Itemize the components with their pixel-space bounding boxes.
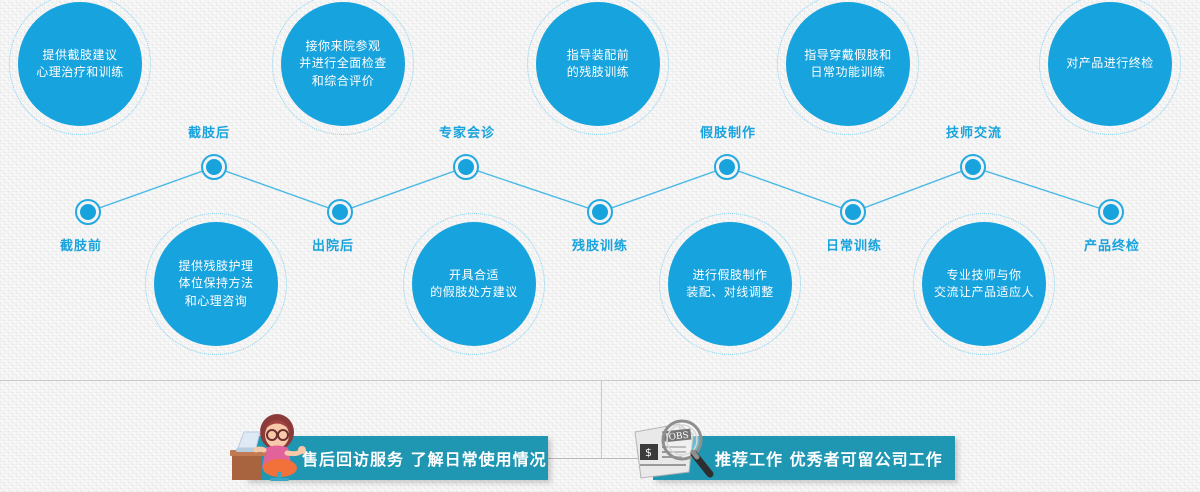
bubble-b4[interactable]: 开具合适 的假肢处方建议 [412, 222, 536, 346]
bubble-line: 提供残肢护理 [160, 258, 272, 275]
bubble-b2[interactable]: 提供残肢护理 体位保持方法 和心理咨询 [154, 222, 278, 346]
bubble-line: 专业技师与你 [928, 267, 1040, 284]
jobs-banner-text: 推荐工作 优秀者可留公司工作 [715, 446, 943, 470]
svg-text:$: $ [645, 446, 652, 459]
timeline-node-n9[interactable] [1098, 199, 1124, 225]
vertical-connector-rule [601, 381, 602, 458]
bubble-line: 装配、对线调整 [674, 284, 786, 301]
bubble-line: 开具合适 [418, 267, 530, 284]
bubble-line: 接你来院参观 [287, 38, 399, 55]
timeline-node-n2[interactable] [201, 154, 227, 180]
timeline-diagram: 提供截肢建议 心理治疗和训练 接你来院参观 并进行全面检查 和综合评价 指导装配… [0, 0, 1200, 492]
timeline-node-n6[interactable] [714, 154, 740, 180]
section-divider [0, 380, 1200, 381]
banner-connector-left [548, 458, 602, 459]
bubble-line: 指导穿戴假肢和 [792, 47, 904, 64]
service-banner[interactable]: 售后回访服务 了解日常使用情况 [245, 436, 548, 480]
bubble-line: 心理治疗和训练 [24, 64, 136, 81]
bubble-line: 的假肢处方建议 [418, 284, 530, 301]
bubble-line: 对产品进行终检 [1054, 55, 1166, 72]
timeline-node-n7[interactable] [840, 199, 866, 225]
node-label-n2: 截肢后 [188, 122, 230, 141]
timeline-node-n5[interactable] [587, 199, 613, 225]
bubble-b3[interactable]: 接你来院参观 并进行全面检查 和综合评价 [281, 2, 405, 126]
bubble-b7[interactable]: 指导穿戴假肢和 日常功能训练 [786, 2, 910, 126]
bubble-b5[interactable]: 指导装配前 的残肢训练 [536, 2, 660, 126]
bubble-line: 交流让产品适应人 [928, 284, 1040, 301]
timeline-node-n4[interactable] [453, 154, 479, 180]
bubble-b9[interactable]: 对产品进行终检 [1048, 2, 1172, 126]
timeline-node-n8[interactable] [960, 154, 986, 180]
woman-at-desk-with-laptop-icon [230, 410, 310, 486]
bubble-line: 日常功能训练 [792, 64, 904, 81]
newspaper-magnifier-jobs-icon: JOBS $ [627, 412, 717, 486]
node-label-n3: 出院后 [312, 235, 354, 254]
bubble-b1[interactable]: 提供截肢建议 心理治疗和训练 [18, 2, 142, 126]
bubble-line: 指导装配前 [542, 47, 654, 64]
node-label-n4: 专家会诊 [439, 122, 495, 141]
bubble-b6[interactable]: 进行假肢制作 装配、对线调整 [668, 222, 792, 346]
node-label-n6: 假肢制作 [700, 122, 756, 141]
bubble-line: 提供截肢建议 [24, 47, 136, 64]
node-label-n8: 技师交流 [946, 122, 1002, 141]
node-label-n9: 产品终检 [1084, 235, 1140, 254]
timeline-node-n1[interactable] [75, 199, 101, 225]
jobs-banner[interactable]: JOBS $ 推荐工作 优秀者可留公司工作 [653, 436, 955, 480]
service-banner-text: 售后回访服务 了解日常使用情况 [302, 446, 547, 470]
bubble-line: 的残肢训练 [542, 64, 654, 81]
node-label-n5: 残肢训练 [572, 235, 628, 254]
bubble-line: 并进行全面检查 [287, 55, 399, 72]
bubble-b8[interactable]: 专业技师与你 交流让产品适应人 [922, 222, 1046, 346]
bubble-line: 和心理咨询 [160, 293, 272, 310]
timeline-node-n3[interactable] [327, 199, 353, 225]
node-label-n7: 日常训练 [826, 235, 882, 254]
bubble-line: 进行假肢制作 [674, 267, 786, 284]
bubble-line: 体位保持方法 [160, 275, 272, 292]
bubble-line: 和综合评价 [287, 73, 399, 90]
node-label-n1: 截肢前 [60, 235, 102, 254]
